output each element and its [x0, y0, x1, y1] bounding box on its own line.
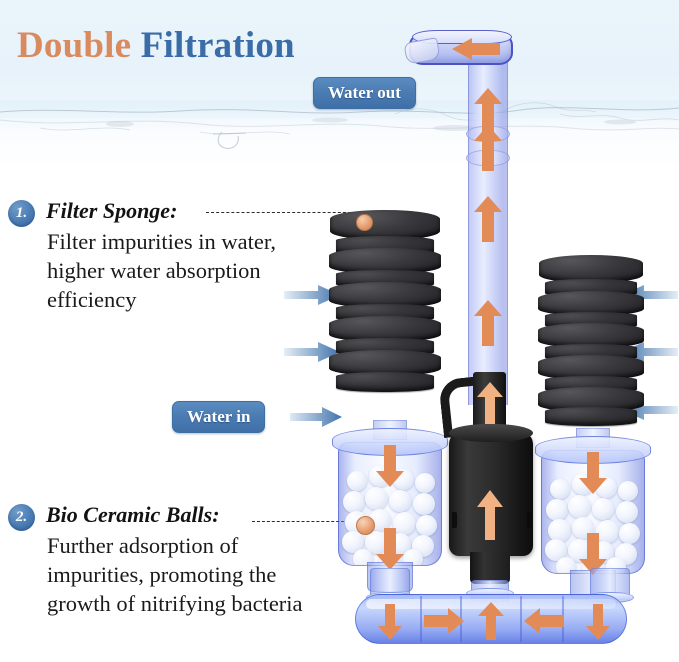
feature-2-heading: Bio Ceramic Balls:	[46, 502, 220, 528]
ceramic-ball	[550, 479, 570, 499]
flow-arrow-pump-body-up	[477, 490, 503, 540]
ceramic-ball	[546, 499, 568, 521]
feature-2-body: Further adsorption of impurities, promot…	[47, 532, 322, 618]
title-main-word: Filtration	[141, 25, 295, 66]
flow-arrow-tube-up-2	[474, 125, 502, 171]
water-surface-splash	[0, 98, 679, 172]
flow-arrow-outlet-left	[452, 38, 500, 60]
manifold-seam	[420, 596, 422, 642]
feature-1-heading: Filter Sponge:	[46, 198, 177, 224]
water-out-badge: Water out	[313, 77, 416, 109]
flow-arrow-manifold-down-left	[378, 604, 402, 640]
ceramic-ball	[619, 523, 640, 544]
water-in-pointer-arrow	[290, 406, 342, 428]
flow-arrow-manifold-down-right	[586, 604, 610, 640]
right-filter-sponge	[537, 255, 645, 430]
pump-top-cap	[449, 424, 533, 442]
ceramic-ball	[616, 501, 638, 523]
ceramic-ball	[618, 481, 638, 501]
flow-arrow-manifold-right	[424, 608, 464, 634]
sponge-disc	[545, 407, 637, 426]
flow-arrow-tube-up-4	[474, 300, 502, 346]
ceramic-ball	[548, 519, 571, 542]
flow-arrow-pump-stem-up	[477, 382, 503, 424]
feature-1-callout-dot	[356, 214, 373, 231]
ceramic-ball	[389, 490, 411, 512]
pump-vent	[452, 512, 457, 528]
ceramic-ball	[415, 473, 435, 493]
infographic-canvas: Double Filtration Water out Water in 1. …	[0, 0, 679, 662]
flow-arrow-left-chamber-down-2	[376, 528, 404, 570]
pump-vent	[527, 512, 532, 528]
ceramic-ball	[416, 515, 437, 536]
ceramic-ball	[343, 491, 365, 513]
ceramic-ball	[347, 471, 367, 491]
page-title: Double Filtration	[17, 24, 295, 67]
ceramic-ball	[568, 495, 591, 518]
ceramic-ball	[413, 493, 435, 515]
sponge-disc	[336, 372, 434, 392]
feature-1-body: Filter impurities in water, higher water…	[47, 228, 312, 314]
title-accent-word: Double	[17, 25, 131, 66]
flow-arrow-right-chamber-down-1	[579, 452, 607, 494]
water-in-badge: Water in	[172, 401, 265, 433]
flow-arrow-manifold-left	[524, 608, 564, 634]
flow-arrow-left-chamber-down-1	[376, 445, 404, 487]
flow-arrow-tube-up-3	[474, 196, 502, 242]
flow-arrow-manifold-up-center	[478, 602, 504, 640]
feature-1-number: 1.	[8, 200, 35, 227]
manifold-seam	[520, 596, 522, 642]
feature-2-number: 2.	[8, 504, 35, 531]
ceramic-ball	[365, 487, 388, 510]
feature-2-callout-dot	[356, 516, 375, 535]
left-filter-sponge	[328, 210, 442, 395]
ceramic-ball	[592, 498, 614, 520]
